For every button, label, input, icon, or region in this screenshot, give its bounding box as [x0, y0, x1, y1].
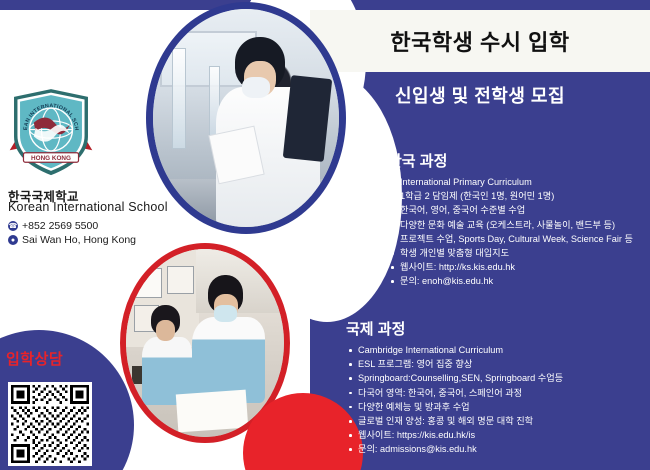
- lab-glassware-1: [172, 48, 187, 148]
- list-item-website[interactable]: 웹사이트: https://kis.edu.hk/is: [346, 428, 563, 442]
- artwork-frame-2: [167, 266, 194, 294]
- list-item-website[interactable]: 웹사이트: http://ks.kis.edu.hk: [388, 260, 633, 274]
- section-international-curriculum: 국제 과정 Cambridge International Curriculum…: [346, 318, 563, 457]
- list-item: 한국어, 영어, 중국어 수준별 수업: [388, 203, 633, 217]
- drawing-sheet: [175, 389, 247, 431]
- list-item: 다국어 영역: 한국어, 중국어, 스페인어 과정: [346, 386, 563, 400]
- page-subtitle: 신입생 및 전학생 모집: [395, 82, 565, 108]
- section-korean-title: 한국 과정: [388, 150, 633, 171]
- list-item: 프로젝트 수업, Sports Day, Cultural Week, Scie…: [388, 232, 633, 246]
- science-lab-photo-image: [153, 9, 339, 227]
- school-logo: KOREAN INTERNATIONAL SCHOOL HONG KONG: [8, 86, 94, 180]
- contact-phone[interactable]: ☎ +852 2569 5500: [8, 220, 98, 232]
- student-a-face-mask: [214, 305, 236, 322]
- student-clipboard: [283, 75, 332, 162]
- student-face-mask: [242, 77, 270, 99]
- page-title: 한국학생 수시 입학: [390, 25, 569, 57]
- contact-phone-value: +852 2569 5500: [22, 220, 98, 232]
- school-name-english: Korean International School: [8, 200, 168, 214]
- art-class-photo-image: [126, 249, 284, 437]
- science-lab-photo: [146, 2, 346, 234]
- list-item-email[interactable]: 문의: admissions@kis.edu.hk: [346, 442, 563, 456]
- header-band: 한국학생 수시 입학: [310, 10, 650, 72]
- list-item: Springboard:Counselling,SEN, Springboard…: [346, 371, 563, 385]
- list-item: 다양한 문화 예술 교육 (오케스트라, 사물놀이, 밴드부 등): [388, 218, 633, 232]
- list-item-email[interactable]: 문의: enoh@kis.edu.hk: [388, 274, 633, 288]
- contact-address-value: Sai Wan Ho, Hong Kong: [22, 234, 136, 246]
- location-pin-icon: ●: [8, 235, 18, 245]
- qr-code-graphic: [11, 385, 89, 463]
- list-item: 다양한 예체능 및 방과후 수업: [346, 400, 563, 414]
- list-item: ESL 프로그램: 영어 집중 향상: [346, 357, 563, 371]
- list-item: 글로벌 인재 양성: 홍콩 및 해외 명문 대학 진학: [346, 414, 563, 428]
- list-item: 학생 개인별 맞춤형 대입지도: [388, 246, 633, 260]
- subheader-band: 신입생 및 전학생 모집: [310, 78, 650, 112]
- student-b-face: [156, 320, 175, 341]
- section-korean-curriculum: 한국 과정 International Primary Curriculum 1…: [388, 150, 633, 289]
- contact-address: ● Sai Wan Ho, Hong Kong: [8, 234, 136, 246]
- list-item: Cambridge International Curriculum: [346, 343, 563, 357]
- section-international-list: Cambridge International Curriculum ESL 프…: [346, 343, 563, 457]
- phone-icon: ☎: [8, 221, 18, 231]
- artwork-frame-1: [135, 268, 162, 298]
- admission-consultation-label: 입학상담: [6, 348, 63, 369]
- svg-text:HONG KONG: HONG KONG: [31, 155, 71, 162]
- school-crest-icon: KOREAN INTERNATIONAL SCHOOL HONG KONG: [8, 86, 94, 180]
- list-item: 1학급 2 담임제 (한국인 1명, 원어민 1명): [388, 189, 633, 203]
- section-international-title: 국제 과정: [346, 318, 563, 339]
- admissions-poster: 한국학생 수시 입학 신입생 및 전학생 모집: [0, 0, 650, 470]
- qr-code[interactable]: [8, 382, 92, 466]
- section-korean-list: International Primary Curriculum 1학급 2 담…: [388, 175, 633, 289]
- list-item: International Primary Curriculum: [388, 175, 633, 189]
